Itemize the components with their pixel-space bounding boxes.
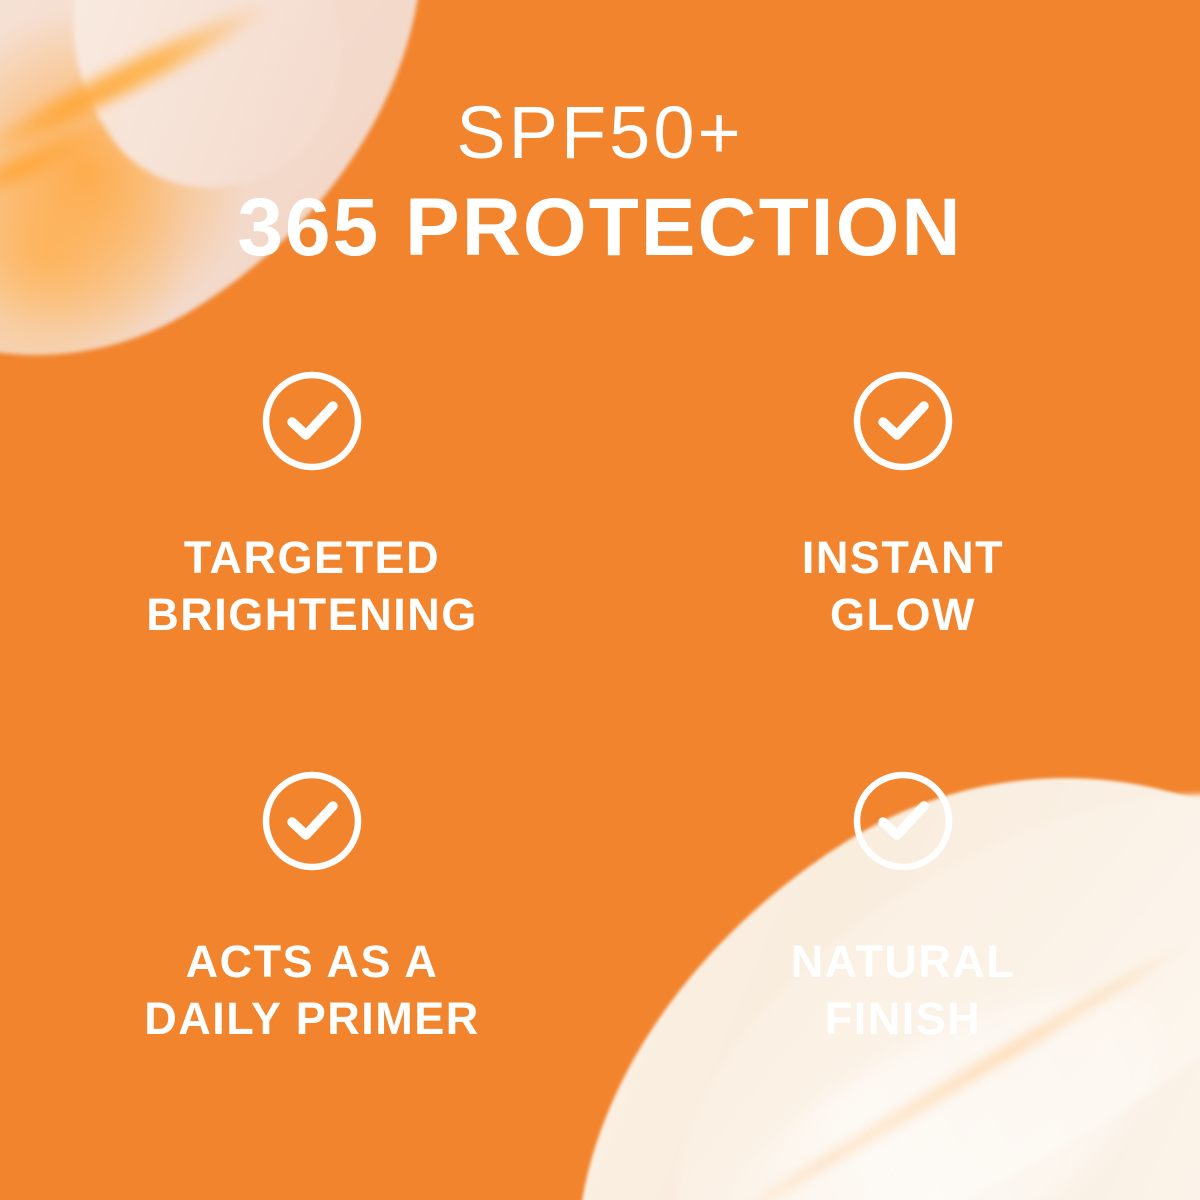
feature-label: INSTANT GLOW — [802, 530, 1004, 643]
feature-label: TARGETED BRIGHTENING — [146, 530, 478, 643]
feature-grid: TARGETED BRIGHTENING INSTANT GLOW — [0, 370, 1200, 1170]
check-circle-icon — [261, 770, 363, 872]
feature-label: NATURAL FINISH — [791, 934, 1016, 1047]
headline-spf-value: SPF50+ — [0, 96, 1200, 170]
headline: SPF50+ 365 PROTECTION — [0, 96, 1200, 277]
feature-item-natural-finish: NATURAL FINISH — [600, 770, 1200, 1170]
check-circle-icon — [852, 370, 954, 472]
feature-item-acts-as-a-daily-primer: ACTS AS A DAILY PRIMER — [0, 770, 600, 1170]
feature-label: ACTS AS A DAILY PRIMER — [144, 934, 480, 1047]
feature-item-targeted-brightening: TARGETED BRIGHTENING — [0, 370, 600, 770]
check-circle-icon — [852, 770, 954, 872]
spf-product-claims-poster: SPF50+ 365 PROTECTION TARGETED BRIGHTENI… — [0, 0, 1200, 1200]
poster-content: SPF50+ 365 PROTECTION TARGETED BRIGHTENI… — [0, 0, 1200, 1200]
feature-item-instant-glow: INSTANT GLOW — [600, 370, 1200, 770]
headline-protection-claim: 365 PROTECTION — [0, 180, 1200, 277]
check-circle-icon — [261, 370, 363, 472]
